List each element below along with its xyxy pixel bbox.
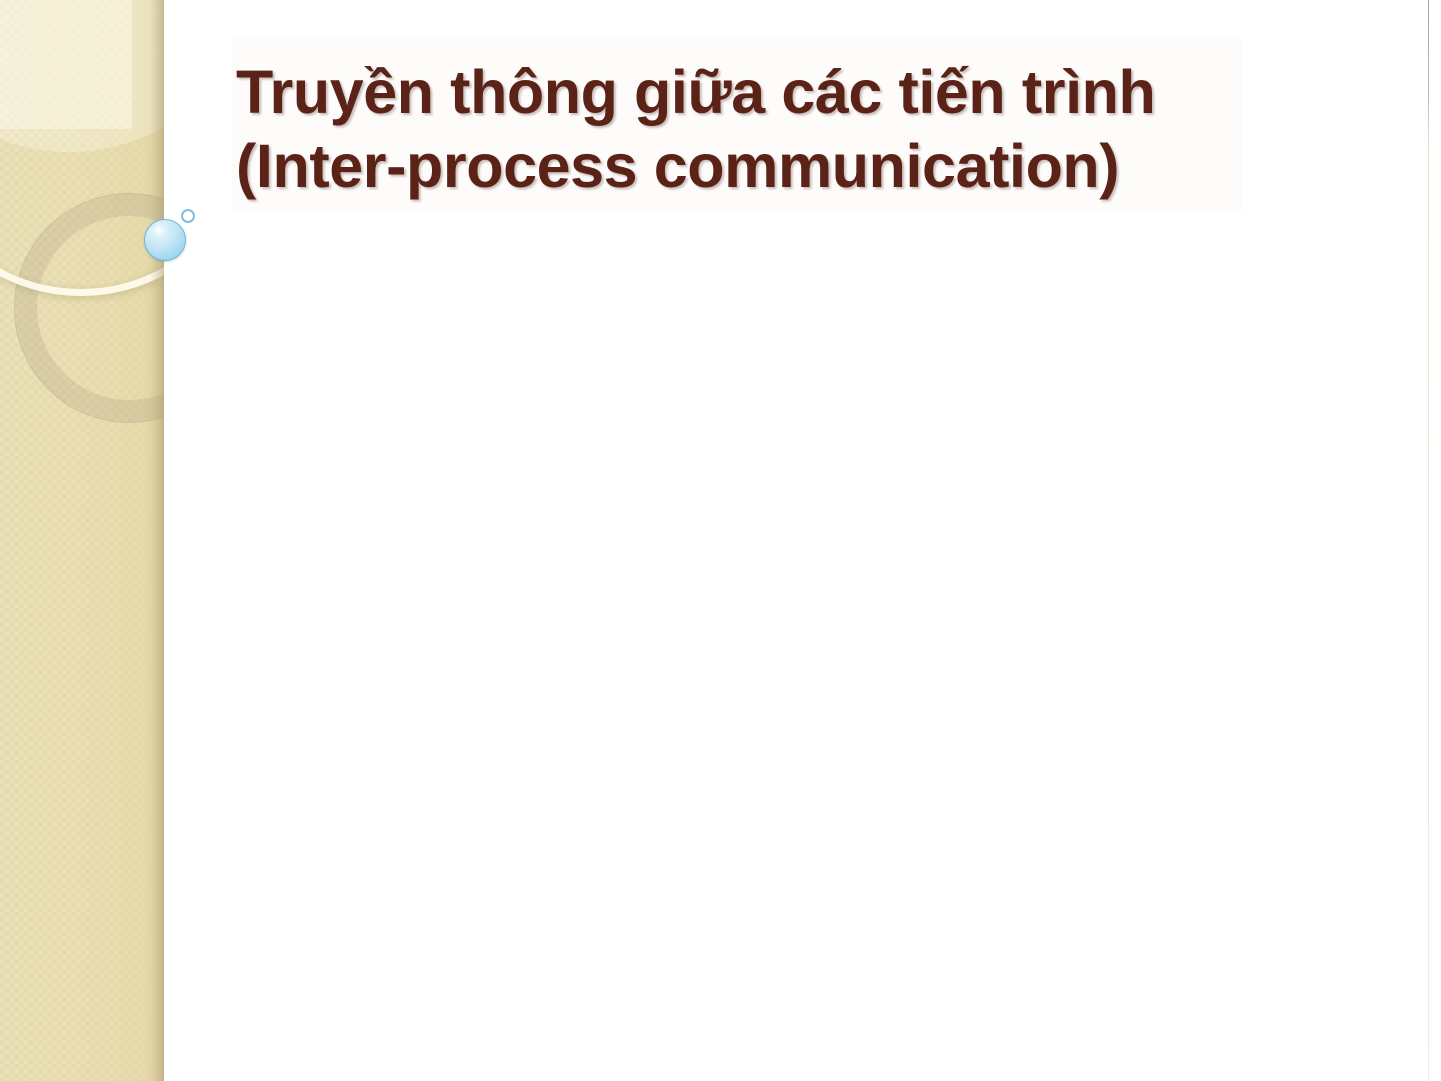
small-blue-bubble-outline-icon <box>181 209 195 223</box>
presentation-slide: Truyền thông giữa các tiến trình (Inter-… <box>0 0 1441 1081</box>
slide-body-content[interactable] <box>232 232 1412 1042</box>
sidebar-edge-shadow <box>150 0 164 1081</box>
slide-title-line-1: Truyền thông giữa các tiến trình <box>232 37 1242 129</box>
decorative-sidebar-band <box>0 0 164 1081</box>
slide-right-border-rule <box>1428 0 1429 1081</box>
slide-title-line-2: (Inter-process communication) <box>232 129 1242 213</box>
large-blue-bubble-icon <box>144 219 186 261</box>
slide-title[interactable]: Truyền thông giữa các tiến trình (Inter-… <box>232 37 1242 213</box>
cream-ring-decoration <box>0 0 164 296</box>
